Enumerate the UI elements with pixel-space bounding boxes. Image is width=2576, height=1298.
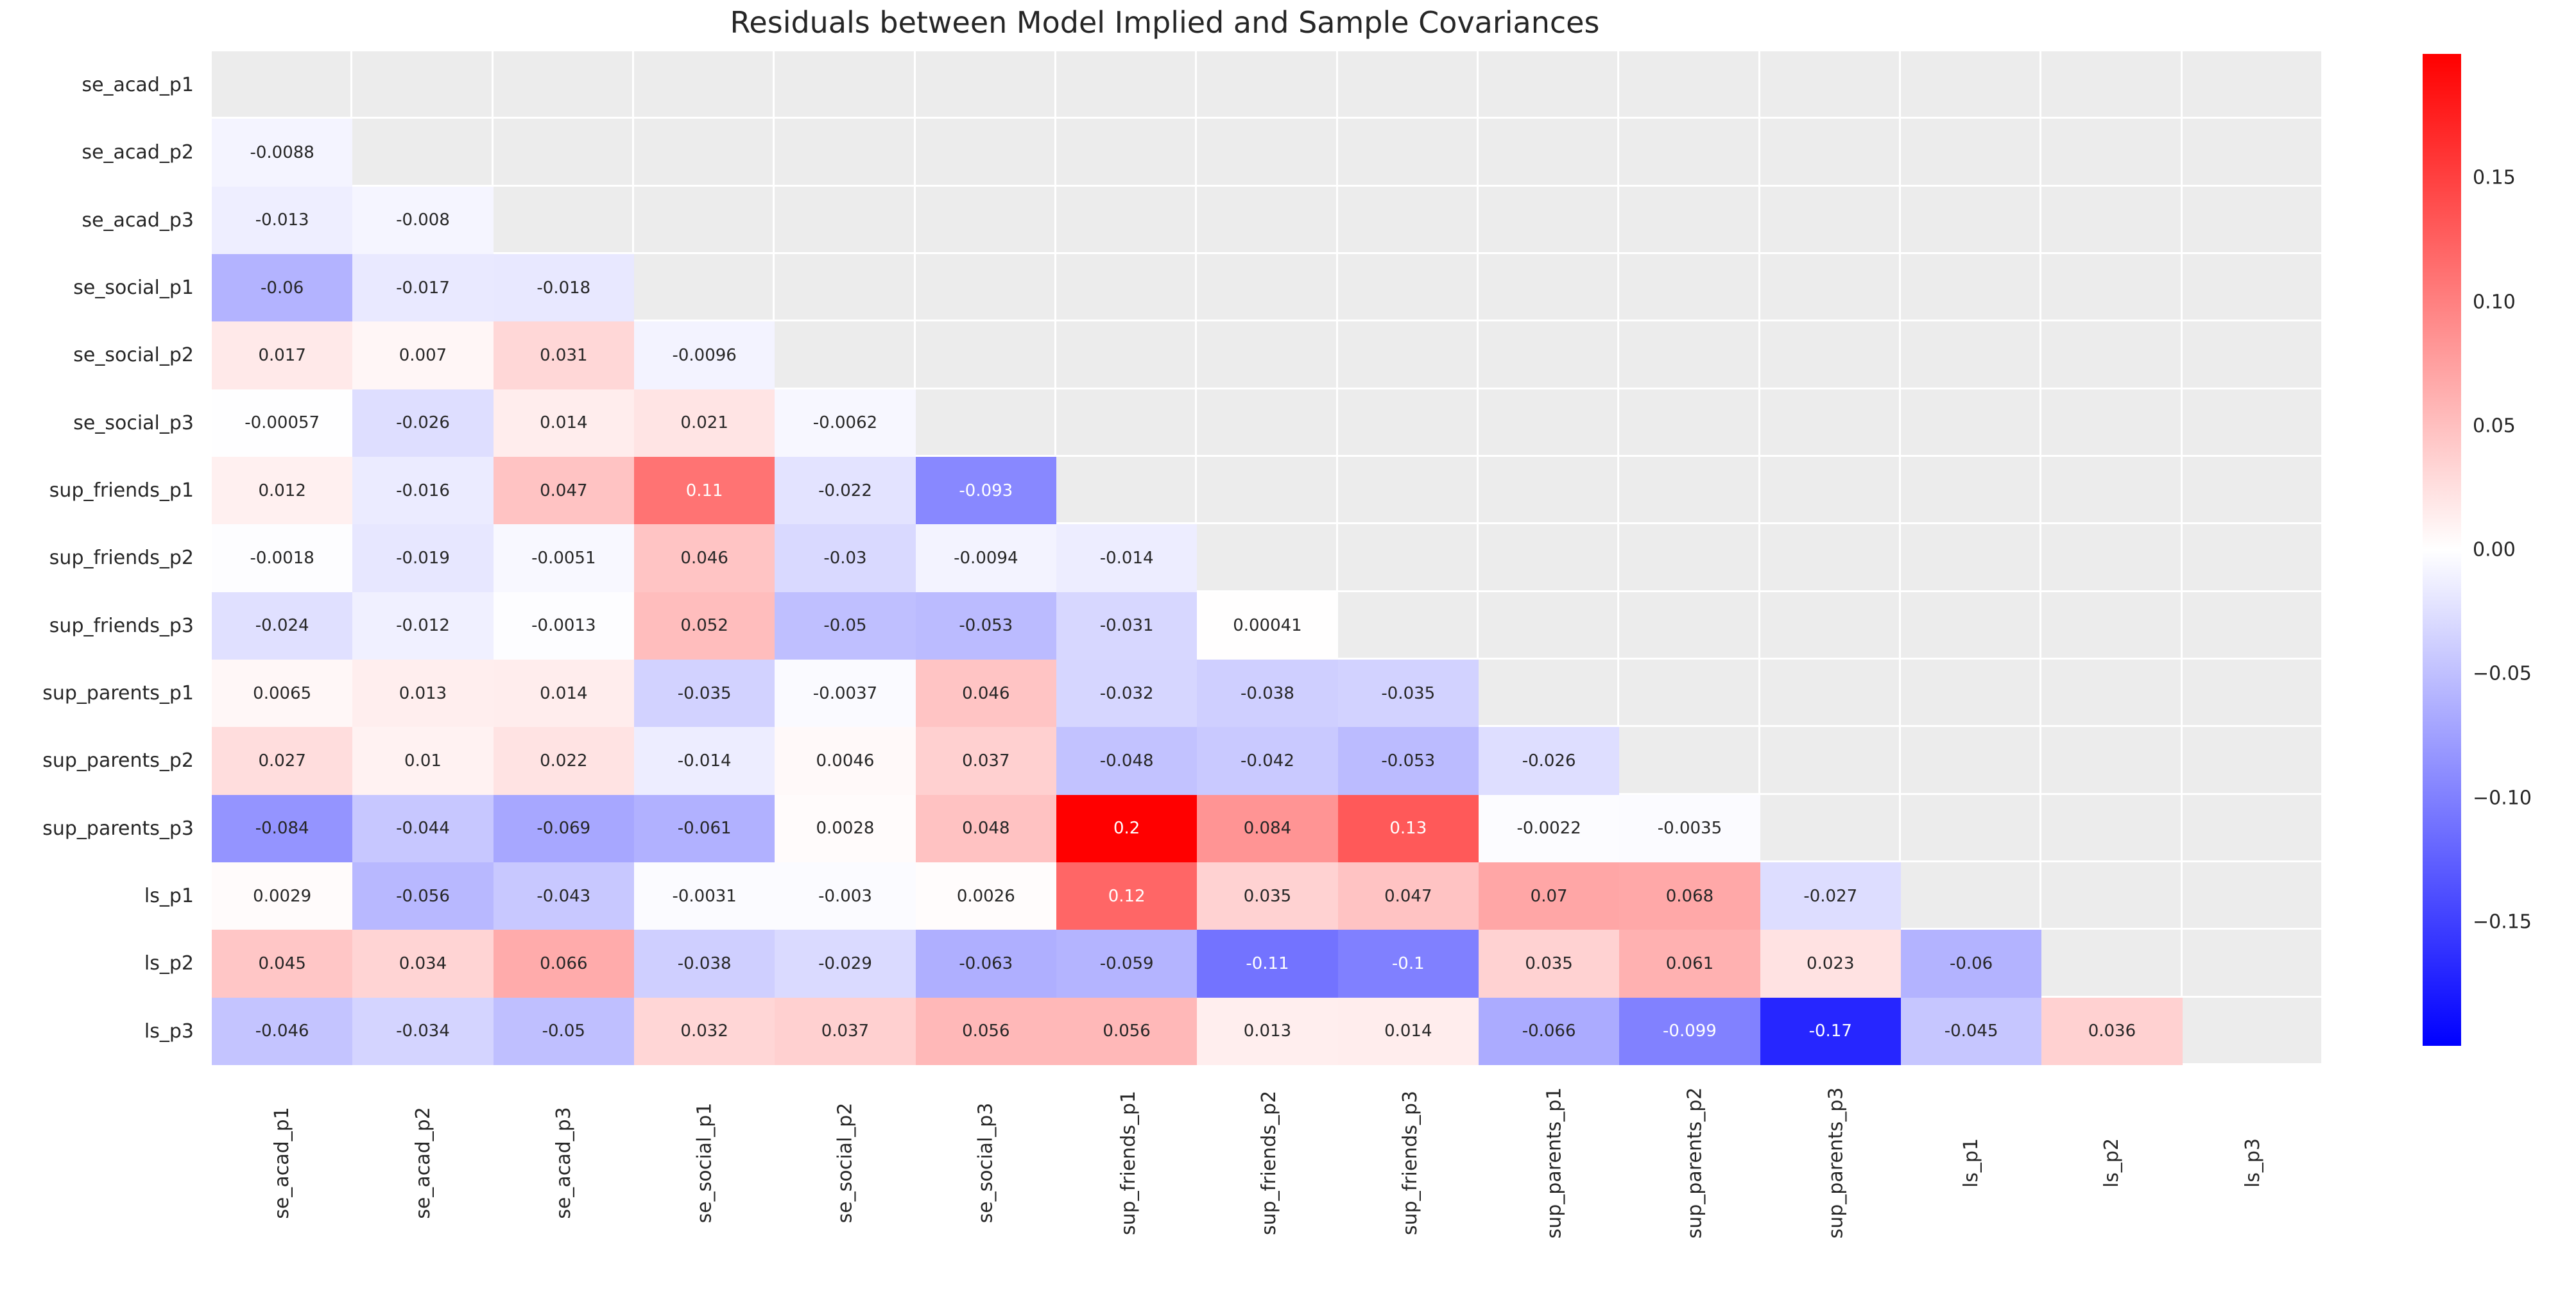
colorbar: 0.150.100.050.00−0.05−0.10−0.15: [2423, 54, 2461, 1046]
heatmap-cell-empty: [352, 51, 493, 119]
heatmap-cell-empty: [775, 51, 915, 119]
heatmap-cell-empty: [1056, 254, 1197, 321]
x-tick-label-text: sup_parents_p2: [1684, 1088, 1706, 1239]
heatmap-cell: -0.0094: [916, 524, 1056, 592]
colorbar-tick-label: 0.05: [2473, 414, 2516, 437]
heatmap-cell: 0.013: [1197, 998, 1337, 1065]
heatmap-cell: -0.038: [634, 930, 775, 997]
heatmap-cell: -0.016: [352, 457, 493, 524]
heatmap-cell: -0.022: [775, 457, 915, 524]
heatmap-cell-empty: [2183, 457, 2323, 524]
heatmap-cell: -0.0022: [1479, 795, 1619, 862]
colorbar-tick-label: −0.05: [2473, 663, 2532, 685]
heatmap-cell: -0.069: [494, 795, 634, 862]
y-tick-label-se_social_p2: se_social_p2: [73, 321, 194, 389]
heatmap-cell-empty: [2183, 727, 2323, 794]
x-tick-label-se_social_p2: se_social_p2: [775, 1068, 915, 1174]
heatmap-cell-empty: [2041, 187, 2182, 254]
y-tick-label-sup_friends_p3: sup_friends_p3: [49, 592, 194, 660]
heatmap-cell-empty: [2041, 524, 2182, 592]
heatmap-cell-empty: [2041, 660, 2182, 727]
heatmap-cell: -0.003: [775, 862, 915, 930]
heatmap-cell-empty: [1479, 389, 1619, 457]
heatmap-cell-empty: [1901, 727, 2041, 794]
heatmap-cell: 0.046: [916, 660, 1056, 727]
heatmap-cell-empty: [634, 51, 775, 119]
heatmap-cell-empty: [2183, 862, 2323, 930]
x-tick-label-se_acad_p3: se_acad_p3: [494, 1068, 634, 1174]
heatmap-cell: 0.014: [1338, 998, 1479, 1065]
x-tick-label-sup_friends_p2: sup_friends_p2: [1197, 1068, 1337, 1174]
heatmap-cell: -0.031: [1056, 592, 1197, 660]
heatmap-cell: 0.037: [775, 998, 915, 1065]
heatmap-cell: 0.01: [352, 727, 493, 794]
heatmap-cell: -0.061: [634, 795, 775, 862]
heatmap-cell: -0.029: [775, 930, 915, 997]
heatmap-cell-empty: [1338, 51, 1479, 119]
heatmap-cell-empty: [775, 187, 915, 254]
heatmap-cell: -0.008: [352, 187, 493, 254]
heatmap-cell-empty: [1619, 524, 1760, 592]
heatmap-cell: 0.066: [494, 930, 634, 997]
heatmap-cell: -0.05: [775, 592, 915, 660]
heatmap-cell: -0.026: [1479, 727, 1619, 794]
heatmap-cell-empty: [1479, 51, 1619, 119]
heatmap-cell: 0.017: [212, 321, 352, 389]
heatmap-cell-empty: [1901, 457, 2041, 524]
x-tick-label-text: sup_friends_p3: [1399, 1091, 1421, 1235]
x-tick-label-sup_parents_p3: sup_parents_p3: [1760, 1068, 1901, 1174]
heatmap-cell: -0.013: [212, 187, 352, 254]
heatmap-cell: 0.047: [494, 457, 634, 524]
heatmap-cell: -0.084: [212, 795, 352, 862]
heatmap-cell-empty: [1619, 254, 1760, 321]
heatmap-cell: 0.032: [634, 998, 775, 1065]
heatmap-cell-empty: [1760, 795, 1901, 862]
x-tick-label-se_acad_p2: se_acad_p2: [352, 1068, 493, 1174]
heatmap-cell-empty: [634, 119, 775, 186]
x-tick-label-text: ls_p2: [2100, 1138, 2123, 1188]
x-tick-label-se_social_p3: se_social_p3: [916, 1068, 1056, 1174]
heatmap-cell: -0.035: [634, 660, 775, 727]
heatmap-cell: 0.031: [494, 321, 634, 389]
heatmap-cell: 0.046: [634, 524, 775, 592]
heatmap-cell-empty: [634, 187, 775, 254]
heatmap-cell-empty: [2183, 254, 2323, 321]
heatmap-cell-empty: [2041, 119, 2182, 186]
x-tick-label-text: sup_parents_p1: [1543, 1088, 1565, 1239]
heatmap-grid: -0.0088-0.013-0.008-0.06-0.017-0.0180.01…: [212, 51, 2323, 1065]
heatmap-cell: 0.034: [352, 930, 493, 997]
heatmap-row: -0.013-0.008: [212, 187, 2323, 254]
heatmap-cell: 0.0028: [775, 795, 915, 862]
heatmap-cell-empty: [2041, 862, 2182, 930]
x-tick-label-sup_friends_p1: sup_friends_p1: [1056, 1068, 1197, 1174]
heatmap-cell-empty: [2183, 187, 2323, 254]
x-tick-label-ls_p1: ls_p1: [1901, 1068, 2041, 1174]
heatmap-row: 0.0029-0.056-0.043-0.0031-0.0030.00260.1…: [212, 862, 2323, 930]
heatmap-cell-empty: [1338, 119, 1479, 186]
heatmap-cell-empty: [494, 187, 634, 254]
heatmap-row: 0.0170.0070.031-0.0096: [212, 321, 2323, 389]
y-tick-label-se_social_p3: se_social_p3: [73, 389, 194, 457]
heatmap-cell: -0.00057: [212, 389, 352, 457]
heatmap-cell-empty: [1619, 592, 1760, 660]
heatmap-row: 0.00650.0130.014-0.035-0.00370.046-0.032…: [212, 660, 2323, 727]
heatmap-cell-empty: [1760, 727, 1901, 794]
heatmap-cell-empty: [494, 119, 634, 186]
heatmap-cell: -0.019: [352, 524, 493, 592]
heatmap-cell-empty: [916, 254, 1056, 321]
heatmap-cell-empty: [1197, 524, 1337, 592]
heatmap-row: 0.0450.0340.066-0.038-0.029-0.063-0.059-…: [212, 930, 2323, 997]
heatmap-cell-empty: [494, 51, 634, 119]
heatmap-cell-empty: [1760, 524, 1901, 592]
heatmap-cell: 0.012: [212, 457, 352, 524]
heatmap-cell: 0.00041: [1197, 592, 1337, 660]
heatmap-cell-empty: [1056, 321, 1197, 389]
heatmap-cell-empty: [2183, 321, 2323, 389]
heatmap-cell: -0.066: [1479, 998, 1619, 1065]
heatmap-row: -0.06-0.017-0.018: [212, 254, 2323, 321]
heatmap-cell-empty: [2041, 592, 2182, 660]
heatmap-cell-empty: [775, 119, 915, 186]
heatmap-cell-empty: [1760, 254, 1901, 321]
heatmap-row: -0.046-0.034-0.050.0320.0370.0560.0560.0…: [212, 998, 2323, 1065]
colorbar-tick-label: −0.10: [2473, 787, 2532, 809]
heatmap-cell: -0.0037: [775, 660, 915, 727]
heatmap-cell: 0.027: [212, 727, 352, 794]
y-tick-label-se_acad_p3: se_acad_p3: [82, 187, 194, 254]
heatmap-cell-empty: [1901, 254, 2041, 321]
heatmap-cell-empty: [1760, 592, 1901, 660]
heatmap-cell: -0.017: [352, 254, 493, 321]
x-tick-label-text: se_social_p2: [834, 1103, 856, 1224]
heatmap-cell-empty: [1338, 254, 1479, 321]
heatmap-cell-empty: [1760, 51, 1901, 119]
heatmap-row: [212, 51, 2323, 119]
x-tick-label-text: se_acad_p1: [271, 1107, 293, 1219]
x-tick-label-sup_friends_p3: sup_friends_p3: [1338, 1068, 1479, 1174]
heatmap-cell-empty: [1760, 389, 1901, 457]
heatmap-cell-empty: [2183, 998, 2323, 1065]
heatmap-cell-empty: [1338, 457, 1479, 524]
heatmap-cell-empty: [1338, 389, 1479, 457]
heatmap-cell: 0.013: [352, 660, 493, 727]
heatmap-cell: -0.0096: [634, 321, 775, 389]
heatmap-cell-empty: [1619, 187, 1760, 254]
heatmap-row: -0.084-0.044-0.069-0.0610.00280.0480.20.…: [212, 795, 2323, 862]
heatmap-cell-empty: [2041, 727, 2182, 794]
heatmap-cell: -0.053: [916, 592, 1056, 660]
heatmap-cell: -0.053: [1338, 727, 1479, 794]
heatmap-cell: -0.17: [1760, 998, 1901, 1065]
heatmap-cell-empty: [2041, 930, 2182, 997]
heatmap-row: -0.024-0.012-0.00130.052-0.05-0.053-0.03…: [212, 592, 2323, 660]
heatmap-cell: -0.05: [494, 998, 634, 1065]
y-tick-label-ls_p1: ls_p1: [144, 862, 194, 930]
heatmap-cell: -0.0088: [212, 119, 352, 186]
heatmap-cell-empty: [916, 321, 1056, 389]
heatmap-cell-empty: [2183, 930, 2323, 997]
heatmap-cell-empty: [2183, 119, 2323, 186]
heatmap-plot-area: -0.0088-0.013-0.008-0.06-0.017-0.0180.01…: [212, 51, 2323, 1065]
heatmap-cell: -0.042: [1197, 727, 1337, 794]
x-tick-label-text: ls_p3: [2242, 1138, 2264, 1188]
y-tick-label-ls_p2: ls_p2: [144, 930, 194, 997]
heatmap-cell-empty: [1760, 457, 1901, 524]
heatmap-cell: 0.0026: [916, 862, 1056, 930]
heatmap-cell-empty: [1619, 321, 1760, 389]
x-tick-label-text: sup_friends_p1: [1117, 1091, 1140, 1235]
heatmap-cell: 0.11: [634, 457, 775, 524]
heatmap-cell-empty: [1479, 660, 1619, 727]
heatmap-cell: 0.007: [352, 321, 493, 389]
heatmap-cell-empty: [2041, 51, 2182, 119]
heatmap-cell: -0.024: [212, 592, 352, 660]
y-tick-label-sup_friends_p1: sup_friends_p1: [49, 457, 194, 524]
heatmap-cell-empty: [775, 321, 915, 389]
heatmap-cell-empty: [1619, 660, 1760, 727]
x-tick-label-ls_p3: ls_p3: [2183, 1068, 2323, 1174]
heatmap-cell: 0.084: [1197, 795, 1337, 862]
heatmap-cell: -0.043: [494, 862, 634, 930]
x-tick-label-se_acad_p1: se_acad_p1: [212, 1068, 352, 1174]
heatmap-cell: -0.018: [494, 254, 634, 321]
heatmap-cell-empty: [1901, 862, 2041, 930]
heatmap-cell-empty: [916, 389, 1056, 457]
heatmap-cell-empty: [1338, 187, 1479, 254]
heatmap-cell: -0.0035: [1619, 795, 1760, 862]
heatmap-cell-empty: [1338, 524, 1479, 592]
heatmap-cell-empty: [1338, 592, 1479, 660]
heatmap-cell-empty: [2041, 389, 2182, 457]
heatmap-cell-empty: [1619, 457, 1760, 524]
heatmap-cell-empty: [1901, 592, 2041, 660]
heatmap-cell-empty: [1901, 660, 2041, 727]
heatmap-cell-empty: [1901, 524, 2041, 592]
heatmap-cell: -0.012: [352, 592, 493, 660]
heatmap-cell: -0.034: [352, 998, 493, 1065]
heatmap-cell: 0.061: [1619, 930, 1760, 997]
y-tick-label-sup_parents_p2: sup_parents_p2: [42, 727, 194, 794]
heatmap-cell-empty: [1056, 187, 1197, 254]
heatmap-cell-empty: [916, 187, 1056, 254]
heatmap-cell: 0.0029: [212, 862, 352, 930]
heatmap-cell: 0.014: [494, 389, 634, 457]
colorbar-tick-label: 0.00: [2473, 539, 2516, 561]
heatmap-cell: 0.0065: [212, 660, 352, 727]
heatmap-cell: -0.032: [1056, 660, 1197, 727]
heatmap-cell-empty: [1479, 592, 1619, 660]
heatmap-cell: 0.035: [1479, 930, 1619, 997]
colorbar-tick-label: 0.10: [2473, 291, 2516, 313]
heatmap-cell-empty: [1056, 457, 1197, 524]
heatmap-cell: -0.0031: [634, 862, 775, 930]
heatmap-cell: -0.038: [1197, 660, 1337, 727]
heatmap-cell: -0.056: [352, 862, 493, 930]
heatmap-cell-empty: [1619, 51, 1760, 119]
heatmap-cell-empty: [1197, 119, 1337, 186]
y-tick-label-se_acad_p1: se_acad_p1: [82, 51, 194, 119]
heatmap-cell: 0.014: [494, 660, 634, 727]
heatmap-cell: -0.044: [352, 795, 493, 862]
heatmap-cell-empty: [1619, 119, 1760, 186]
heatmap-cell-empty: [1901, 321, 2041, 389]
heatmap-cell: -0.06: [212, 254, 352, 321]
heatmap-cell-empty: [1760, 119, 1901, 186]
heatmap-cell-empty: [1197, 457, 1337, 524]
heatmap-cell: -0.026: [352, 389, 493, 457]
heatmap-cell: -0.06: [1901, 930, 2041, 997]
x-tick-label-sup_parents_p2: sup_parents_p2: [1619, 1068, 1760, 1174]
x-tick-label-text: se_acad_p2: [411, 1107, 434, 1219]
heatmap-cell: 0.13: [1338, 795, 1479, 862]
heatmap-cell-empty: [1197, 187, 1337, 254]
heatmap-cell-empty: [916, 51, 1056, 119]
page-title: Residuals between Model Implied and Samp…: [0, 5, 2330, 40]
heatmap-cell: 0.12: [1056, 862, 1197, 930]
heatmap-cell: 0.07: [1479, 862, 1619, 930]
heatmap-cell: -0.099: [1619, 998, 1760, 1065]
heatmap-cell-empty: [775, 254, 915, 321]
heatmap-cell-empty: [2183, 795, 2323, 862]
heatmap-cell: -0.027: [1760, 862, 1901, 930]
heatmap-cell: 0.021: [634, 389, 775, 457]
heatmap-cell: -0.059: [1056, 930, 1197, 997]
x-tick-label-text: sup_friends_p2: [1258, 1091, 1280, 1235]
heatmap-cell-empty: [1056, 51, 1197, 119]
heatmap-cell: -0.048: [1056, 727, 1197, 794]
heatmap-cell: -0.0062: [775, 389, 915, 457]
heatmap-cell: 0.036: [2041, 998, 2182, 1065]
heatmap-cell: 0.2: [1056, 795, 1197, 862]
y-tick-label-se_social_p1: se_social_p1: [73, 254, 194, 321]
heatmap-row: -0.0088: [212, 119, 2323, 186]
heatmap-cell: 0.0046: [775, 727, 915, 794]
heatmap-row: 0.012-0.0160.0470.11-0.022-0.093: [212, 457, 2323, 524]
heatmap-cell: 0.045: [212, 930, 352, 997]
heatmap-cell-empty: [212, 51, 352, 119]
heatmap-cell-empty: [1901, 187, 2041, 254]
heatmap-cell-empty: [1197, 51, 1337, 119]
heatmap-cell-empty: [1619, 389, 1760, 457]
heatmap-cell: -0.03: [775, 524, 915, 592]
heatmap-cell-empty: [1197, 254, 1337, 321]
x-axis-tick-labels: se_acad_p1se_acad_p2se_acad_p3se_social_…: [212, 1068, 2323, 1293]
heatmap-cell-empty: [2183, 524, 2323, 592]
heatmap-cell-empty: [1479, 321, 1619, 389]
heatmap-cell: -0.093: [916, 457, 1056, 524]
heatmap-cell: 0.022: [494, 727, 634, 794]
heatmap-cell-empty: [352, 119, 493, 186]
colorbar-tick-label: 0.15: [2473, 167, 2516, 189]
y-tick-label-sup_parents_p1: sup_parents_p1: [42, 660, 194, 727]
heatmap-cell-empty: [1056, 119, 1197, 186]
heatmap-cell: -0.046: [212, 998, 352, 1065]
colorbar-tick-label: −0.15: [2473, 910, 2532, 933]
heatmap-body: -0.0088-0.013-0.008-0.06-0.017-0.0180.01…: [212, 51, 2323, 1065]
y-tick-label-sup_parents_p3: sup_parents_p3: [42, 795, 194, 862]
x-tick-label-ls_p2: ls_p2: [2041, 1068, 2182, 1174]
heatmap-cell-empty: [1901, 119, 2041, 186]
heatmap-cell: 0.048: [916, 795, 1056, 862]
heatmap-cell: 0.023: [1760, 930, 1901, 997]
heatmap-cell: 0.056: [1056, 998, 1197, 1065]
heatmap-row: -0.0018-0.019-0.00510.046-0.03-0.0094-0.…: [212, 524, 2323, 592]
heatmap-cell: -0.0018: [212, 524, 352, 592]
x-tick-label-text: se_social_p3: [975, 1103, 997, 1224]
heatmap-cell-empty: [2041, 254, 2182, 321]
x-tick-label-text: se_acad_p3: [553, 1107, 575, 1219]
heatmap-cell-empty: [1197, 321, 1337, 389]
heatmap-cell: -0.014: [634, 727, 775, 794]
x-tick-label-text: ls_p1: [1960, 1138, 1982, 1188]
heatmap-cell: -0.014: [1056, 524, 1197, 592]
heatmap-cell: -0.035: [1338, 660, 1479, 727]
heatmap-cell: 0.068: [1619, 862, 1760, 930]
heatmap-cell-empty: [916, 119, 1056, 186]
x-tick-label-text: sup_parents_p3: [1825, 1088, 1847, 1239]
heatmap-cell-empty: [1760, 660, 1901, 727]
heatmap-cell-empty: [2183, 389, 2323, 457]
heatmap-figure: Residuals between Model Implied and Samp…: [0, 0, 2576, 1298]
heatmap-cell-empty: [1901, 51, 2041, 119]
heatmap-cell-empty: [2183, 660, 2323, 727]
heatmap-cell: 0.056: [916, 998, 1056, 1065]
heatmap-cell-empty: [1901, 795, 2041, 862]
heatmap-cell-empty: [1479, 187, 1619, 254]
heatmap-cell: 0.037: [916, 727, 1056, 794]
heatmap-cell-empty: [2183, 51, 2323, 119]
heatmap-cell-empty: [1338, 321, 1479, 389]
y-tick-label-sup_friends_p2: sup_friends_p2: [49, 524, 194, 592]
heatmap-row: -0.00057-0.0260.0140.021-0.0062: [212, 389, 2323, 457]
heatmap-cell: 0.047: [1338, 862, 1479, 930]
heatmap-cell: -0.063: [916, 930, 1056, 997]
heatmap-cell-empty: [2041, 457, 2182, 524]
y-tick-label-ls_p3: ls_p3: [144, 998, 194, 1065]
heatmap-cell-empty: [1479, 119, 1619, 186]
heatmap-cell-empty: [1760, 187, 1901, 254]
heatmap-cell-empty: [1479, 524, 1619, 592]
colorbar-gradient: [2423, 54, 2461, 1046]
heatmap-cell: -0.0013: [494, 592, 634, 660]
heatmap-cell-empty: [1619, 727, 1760, 794]
heatmap-cell-empty: [1197, 389, 1337, 457]
heatmap-cell: -0.0051: [494, 524, 634, 592]
heatmap-cell-empty: [1056, 389, 1197, 457]
x-tick-label-sup_parents_p1: sup_parents_p1: [1479, 1068, 1619, 1174]
heatmap-cell: 0.052: [634, 592, 775, 660]
y-tick-label-se_acad_p2: se_acad_p2: [82, 119, 194, 186]
heatmap-row: 0.0270.010.022-0.0140.00460.037-0.048-0.…: [212, 727, 2323, 794]
heatmap-cell: -0.045: [1901, 998, 2041, 1065]
heatmap-cell-empty: [1901, 389, 2041, 457]
heatmap-cell-empty: [634, 254, 775, 321]
heatmap-cell: 0.035: [1197, 862, 1337, 930]
y-axis-tick-labels: se_acad_p1se_acad_p2se_acad_p3se_social_…: [0, 51, 204, 1065]
heatmap-cell-empty: [1479, 254, 1619, 321]
heatmap-cell: -0.1: [1338, 930, 1479, 997]
x-tick-label-text: se_social_p1: [693, 1103, 716, 1224]
heatmap-cell: -0.11: [1197, 930, 1337, 997]
heatmap-cell-empty: [1760, 321, 1901, 389]
heatmap-cell-empty: [1479, 457, 1619, 524]
heatmap-cell-empty: [2041, 321, 2182, 389]
heatmap-cell-empty: [2041, 795, 2182, 862]
x-tick-label-se_social_p1: se_social_p1: [634, 1068, 775, 1174]
